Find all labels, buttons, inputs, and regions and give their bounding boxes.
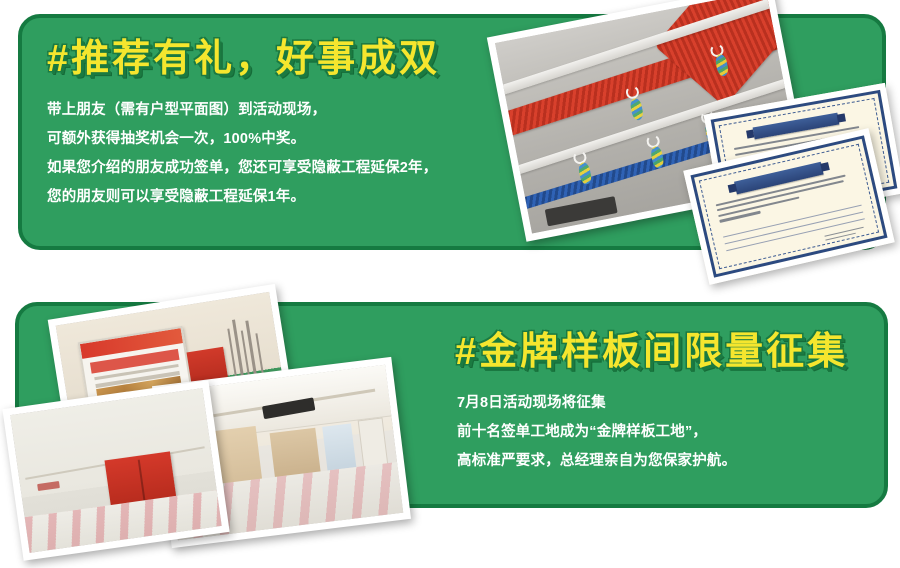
poster-canvas: #推荐有礼，好事成双 带上朋友（需有户型平面图）到活动现场， 可额外获得抽奖机会… (0, 0, 900, 568)
panel-model-site-heading: #金牌样板间限量征集 (455, 333, 848, 371)
model-site-line-2: 前十名签单工地成为“金牌样板工地”， (457, 418, 736, 447)
certificate-body-text (716, 173, 855, 226)
referral-line-3: 如果您介绍的朋友成功签单，您还可享受隐蔽工程延保2年， (47, 154, 437, 183)
model-site-line-1: 7月8日活动现场将征集 (457, 389, 736, 418)
model-site-line-3: 高标准严要求，总经理亲自为您保家护航。 (457, 447, 736, 476)
certificate-ribbon-title (752, 113, 839, 140)
certificate-rule-lines (724, 205, 866, 257)
referral-line-4: 您的朋友则可以享受隐蔽工程延保1年。 (47, 183, 437, 212)
red-cabinet-room-photo (2, 380, 229, 560)
referral-line-1: 带上朋友（需有户型平面图）到活动现场， (47, 96, 437, 125)
panel-referral-body: 带上朋友（需有户型平面图）到活动现场， 可额外获得抽奖机会一次，100%中奖。 … (47, 96, 437, 212)
cabinet-room-image (10, 388, 221, 553)
panel-referral-heading: #推荐有礼，好事成双 (47, 40, 440, 78)
certificate-signature-block (824, 226, 869, 244)
panel-model-site-body: 7月8日活动现场将征集 前十名签单工地成为“金牌样板工地”， 高标准严要求，总经… (457, 389, 736, 476)
referral-line-2: 可额外获得抽奖机会一次，100%中奖。 (47, 125, 437, 154)
window-opening (322, 423, 357, 471)
certificate-ribbon-title (734, 162, 824, 195)
